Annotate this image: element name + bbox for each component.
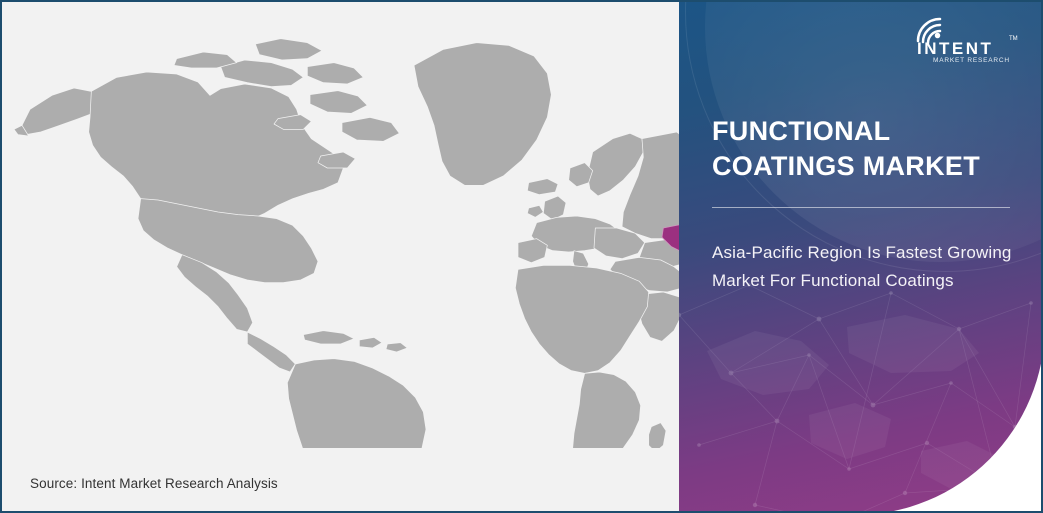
title-divider xyxy=(712,207,1010,208)
asia-pacific-highlight-layer xyxy=(10,8,679,448)
source-note: Source: Intent Market Research Analysis xyxy=(30,476,278,491)
page-title: FUNCTIONAL COATINGS MARKET xyxy=(712,114,1012,183)
brand-panel: INTENT TM MARKET RESEARCH FUNCTIONAL COA… xyxy=(679,2,1043,513)
signal-dot-icon xyxy=(935,33,941,39)
logo-wordmark: INTENT xyxy=(917,39,993,58)
map-panel: Source: Intent Market Research Analysis xyxy=(2,2,679,511)
intent-market-research-logo: INTENT TM MARKET RESEARCH xyxy=(909,12,1027,64)
logo-trademark: TM xyxy=(1009,36,1018,42)
logo-tagline: MARKET RESEARCH xyxy=(933,57,1010,64)
subtitle-text: Asia-Pacific Region Is Fastest Growing M… xyxy=(712,239,1017,294)
infographic-frame: Source: Intent Market Research Analysis xyxy=(0,0,1043,513)
